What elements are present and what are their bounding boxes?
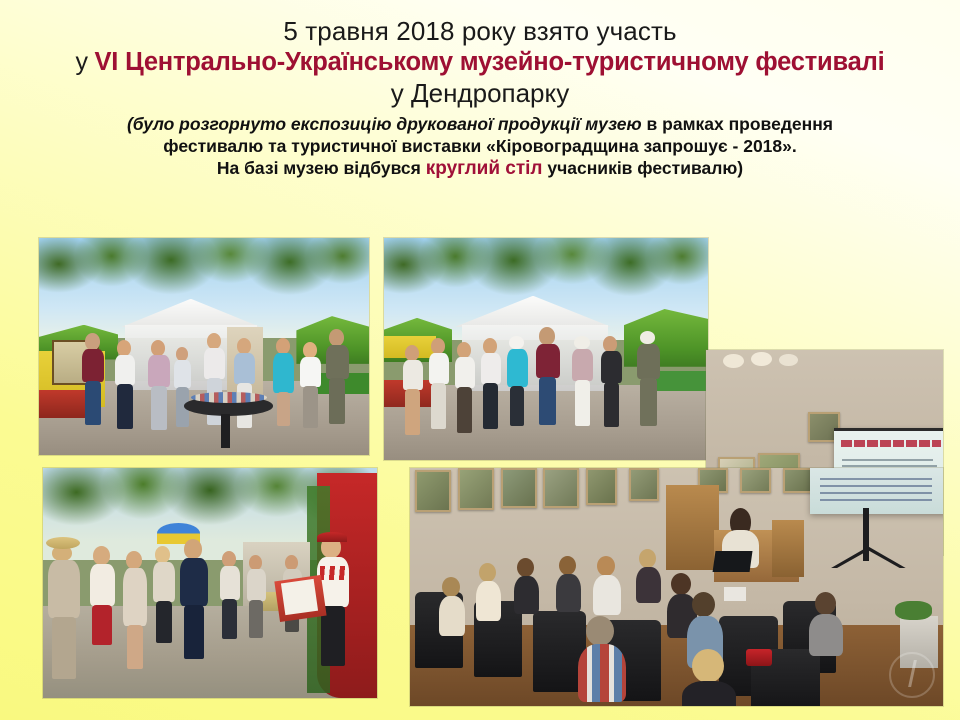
heading-line-2-accent: VI Центрально-Українському музейно-турис… xyxy=(95,48,885,76)
heading-line-3: у Дендропарку xyxy=(0,80,960,107)
slide-paragraph: (було розгорнуто експозицію друкованої п… xyxy=(0,113,960,182)
wall-artwork-4 xyxy=(543,468,579,508)
paper-sheet xyxy=(281,579,319,616)
photo-scene xyxy=(410,468,943,706)
photo-scene xyxy=(39,238,369,455)
photo-scene xyxy=(384,238,708,460)
screen-text-line-2 xyxy=(842,465,938,467)
screen-title-text xyxy=(841,440,941,448)
heading-line-2-lead: у xyxy=(75,48,94,76)
camera-device xyxy=(724,587,745,601)
paragraph-row-3-accent: круглий стіл xyxy=(426,158,543,179)
table-leaflets xyxy=(191,392,267,403)
paragraph-row-3-before: На базі музею відбувся xyxy=(217,158,426,178)
photo-round-table[interactable] xyxy=(410,468,943,706)
wall-artwork-5 xyxy=(586,468,617,505)
wall-artwork-1 xyxy=(415,470,451,512)
flower-wreath xyxy=(317,532,347,542)
screen-tripod-pole xyxy=(863,508,869,560)
red-camera xyxy=(746,649,773,666)
wall-artwork-8 xyxy=(740,468,771,493)
wall-artwork-3 xyxy=(501,468,537,508)
screen-text-block xyxy=(820,473,932,502)
presentation-slide: 5 травня 2018 року взято участь у VI Цен… xyxy=(0,0,960,720)
embroidery-pattern xyxy=(320,566,346,580)
paragraph-row-2: фестивалю та туристичної виставки «Кіров… xyxy=(0,135,960,157)
paragraph-row-1: (було розгорнуто експозицію друкованої п… xyxy=(0,113,960,135)
wall-artwork-2 xyxy=(458,468,494,510)
green-table-right xyxy=(656,371,708,391)
museum-logo-watermark xyxy=(889,652,935,698)
paragraph-row-1-regular: в рамках проведення xyxy=(642,114,833,134)
photo-opening-ceremony[interactable] xyxy=(43,468,377,698)
photo-scene xyxy=(43,468,377,698)
paragraph-row-1-italic: (було розгорнуто експозицію друкованої п… xyxy=(127,114,642,134)
slide-text-block: 5 травня 2018 року взято участь у VI Цен… xyxy=(0,18,960,182)
photo-festival-tent-group[interactable] xyxy=(39,238,369,455)
heading-line-2: у VI Центрально-Українському музейно-тур… xyxy=(0,49,960,76)
speaker-laptop xyxy=(712,551,752,572)
wooden-chair-by-podium xyxy=(772,520,804,577)
photo-festival-delegation[interactable] xyxy=(384,238,708,460)
potted-plant xyxy=(895,601,932,620)
heading-line-1: 5 травня 2018 року взято участь xyxy=(0,18,960,45)
wooden-podium xyxy=(666,485,719,571)
paragraph-row-3-after: учасників фестивалю) xyxy=(543,158,744,178)
table-pedestal xyxy=(221,414,231,449)
wall-artwork-6 xyxy=(629,468,660,501)
paragraph-row-3: На базі музею відбувся круглий стіл учас… xyxy=(0,157,960,181)
screen-text-line-1 xyxy=(842,459,933,461)
